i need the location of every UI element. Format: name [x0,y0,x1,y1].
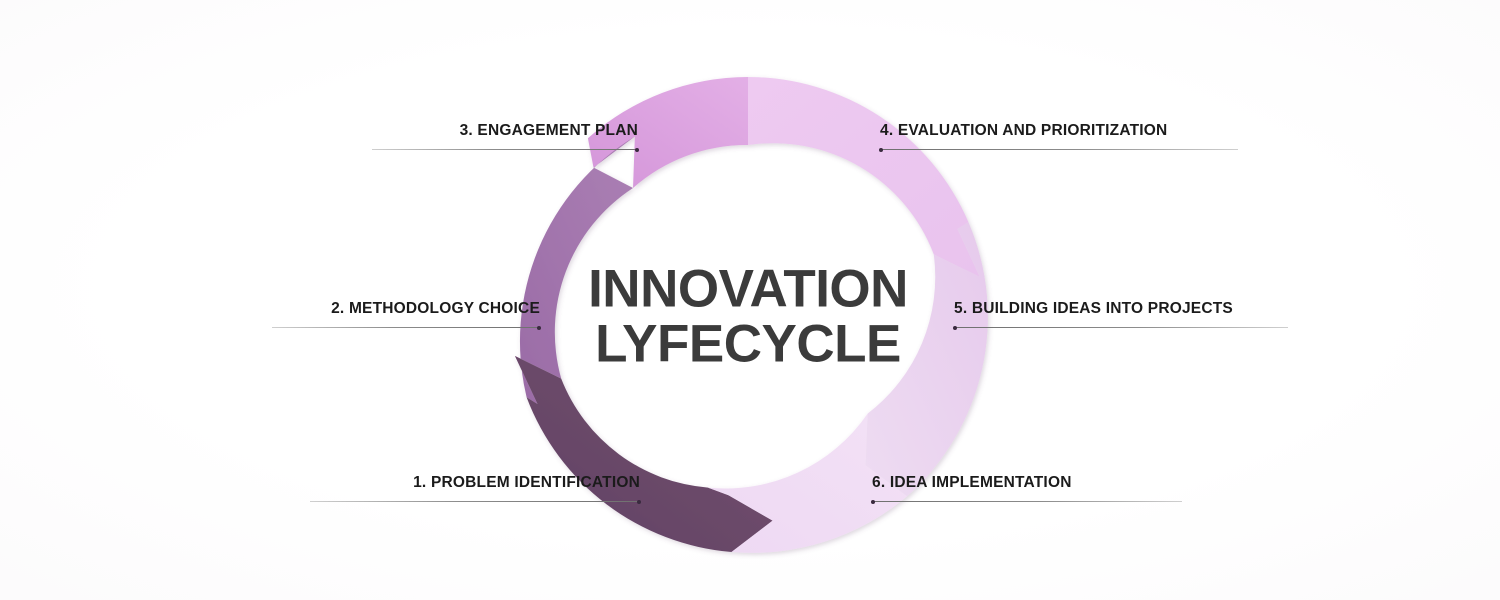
ring-segment-1[interactable] [515,356,773,552]
callout-dot-5 [953,326,957,330]
callout-label-3: 3. ENGAGEMENT PLAN [460,123,638,139]
callout-evaluation-prioritization[interactable]: 4. EVALUATION AND PRIORITIZATION [880,110,1238,150]
callout-idea-implementation[interactable]: 6. IDEA IMPLEMENTATION [872,462,1182,502]
ring-segment-4[interactable] [748,77,980,277]
callout-engagement-plan[interactable]: 3. ENGAGEMENT PLAN [372,110,638,150]
callout-rule-1 [310,501,640,502]
callout-dot-6 [871,500,875,504]
callout-dot-1 [637,500,641,504]
callout-building-ideas-into-projects[interactable]: 5. BUILDING IDEAS INTO PROJECTS [954,288,1288,328]
callout-dot-3 [635,148,639,152]
callout-methodology-choice[interactable]: 2. METHODOLOGY CHOICE [272,288,540,328]
ring-segment-2[interactable] [515,136,635,404]
callout-label-5: 5. BUILDING IDEAS INTO PROJECTS [954,301,1233,317]
callout-rule-3 [372,149,638,150]
diagram-canvas: INNOVATION LYFECYCLE 3. ENGAGEMENT PLAN … [0,0,1500,600]
callout-label-6: 6. IDEA IMPLEMENTATION [872,475,1072,491]
callout-dot-2 [537,326,541,330]
callout-problem-identification[interactable]: 1. PROBLEM IDENTIFICATION [310,462,640,502]
callout-rule-5 [954,327,1288,328]
callout-label-4: 4. EVALUATION AND PRIORITIZATION [880,123,1167,139]
callout-dot-4 [879,148,883,152]
callout-rule-6 [872,501,1182,502]
callout-rule-4 [880,149,1238,150]
callout-label-1: 1. PROBLEM IDENTIFICATION [413,475,640,491]
callout-label-2: 2. METHODOLOGY CHOICE [331,301,540,317]
callout-rule-2 [272,327,540,328]
